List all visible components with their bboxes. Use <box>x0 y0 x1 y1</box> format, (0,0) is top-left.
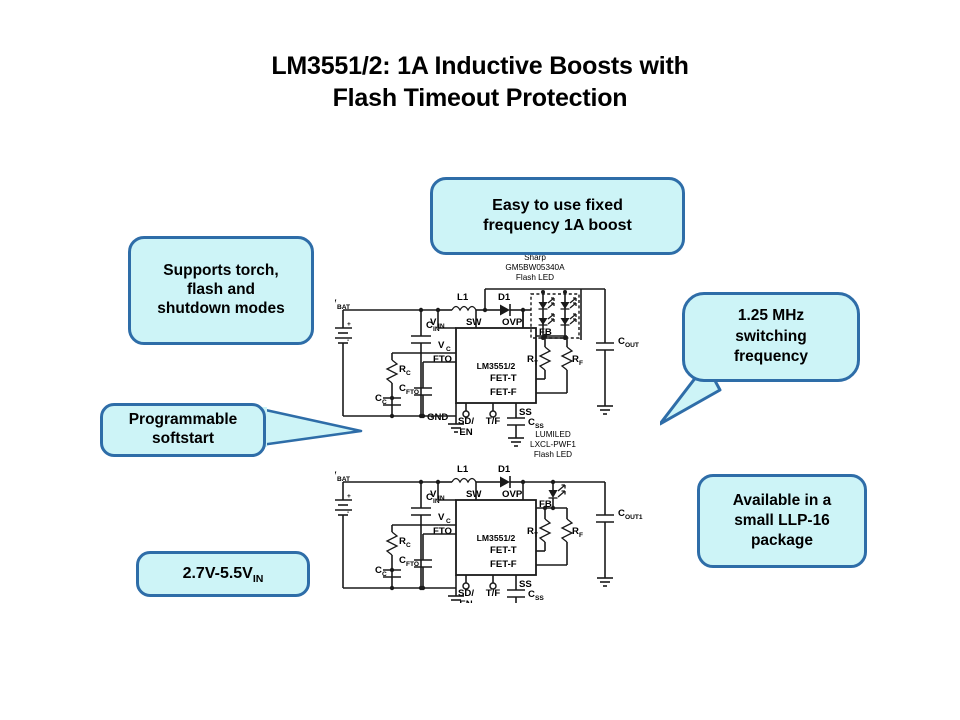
pin-sw-top: SW <box>466 317 482 328</box>
title-line-2: Flash Timeout Protection <box>80 82 880 114</box>
callout-easy-boost[interactable]: Easy to use fixed frequency 1A boost <box>430 177 685 255</box>
callout-torch-line-3: shutdown modes <box>137 300 305 319</box>
d1-label-top: D1 <box>498 292 511 303</box>
cout-label-top: C <box>618 336 625 347</box>
rc-sub-bottom: C <box>406 542 411 549</box>
vbat-sub: BAT <box>337 304 350 311</box>
css-sub-bottom: SS <box>535 595 544 602</box>
callout-programmable-softstart[interactable]: Programmable softstart <box>100 403 266 457</box>
pin-vin-label-b: V <box>430 489 437 500</box>
callout-llp-text: Available in a small LLP-16 package <box>700 491 864 550</box>
pin-fett-top: FET-T <box>490 373 517 384</box>
callout-softstart-line-2: softstart <box>109 430 257 449</box>
pin-vc-bottom: V <box>438 512 445 523</box>
callout-easy-boost-line-2: frequency 1A boost <box>439 216 676 236</box>
callout-vin-sub: IN <box>253 573 264 585</box>
pin-ovp-bottom: OVP <box>502 489 523 500</box>
circuit-top: Sharp GM5BW05340A Flash LED <box>335 253 639 446</box>
css-sub-top: SS <box>535 423 544 430</box>
page-title: LM3551/2: 1A Inductive Boosts with Flash… <box>80 50 880 114</box>
pin-vin-sub-b: IN <box>438 495 445 502</box>
battery-minus: - <box>347 337 349 344</box>
cfto-sub-bottom: FTO <box>406 561 419 568</box>
rt-label-bottom: R <box>527 526 534 537</box>
ic-label-top: LM3551/2 <box>477 361 516 371</box>
callout-freq-line-2: switching <box>691 327 851 348</box>
callout-torch-modes[interactable]: Supports torch, flash and shutdown modes <box>128 236 314 345</box>
cc-sub-top: C <box>382 399 387 406</box>
callout-freq-line-1: 1.25 MHz <box>691 306 851 327</box>
rc-sub-top: C <box>406 370 411 377</box>
rc-label-top: R <box>399 364 406 375</box>
cc-label-bottom: C <box>375 565 382 576</box>
l1-label-bottom: L1 <box>457 464 469 475</box>
callout-llp-line-3: package <box>706 531 858 551</box>
pin-ovp-top: OVP <box>502 317 523 328</box>
callout-torch-line-1: Supports torch, <box>137 262 305 281</box>
pin-sw-bottom: SW <box>466 489 482 500</box>
callout-torch-text: Supports torch, flash and shutdown modes <box>131 262 311 319</box>
pin-sden-bottom-2: EN <box>459 599 472 603</box>
rt-label-top: R <box>527 354 534 365</box>
battery-plus-b: + <box>347 493 351 500</box>
callout-switching-frequency[interactable]: 1.25 MHz switching frequency <box>682 292 860 382</box>
callout-easy-boost-line-1: Easy to use fixed <box>439 196 676 216</box>
vbat-sub-b: BAT <box>337 476 350 483</box>
callout-input-voltage[interactable]: 2.7V-5.5VIN <box>136 551 310 597</box>
pin-vin-sub: IN <box>438 323 445 330</box>
callout-llp-package[interactable]: Available in a small LLP-16 package <box>697 474 867 568</box>
rf-sub-bottom: F <box>579 532 583 539</box>
pin-vin-label: V <box>430 317 437 328</box>
callout-softstart-line-1: Programmable <box>109 411 257 430</box>
circuit-diagram: Sharp GM5BW05340A Flash LED <box>335 248 665 603</box>
cfto-label-top: C <box>399 383 406 394</box>
led-part-b-line-2: LXCL-PWF1 <box>530 440 576 449</box>
pin-gnd-top: GND <box>427 412 448 423</box>
cfto-label-bottom: C <box>399 555 406 566</box>
cc-label-top: C <box>375 393 382 404</box>
led-part-line-3: Flash LED <box>516 273 554 282</box>
slide-canvas: LM3551/2: 1A Inductive Boosts with Flash… <box>0 0 960 720</box>
callout-easy-boost-text: Easy to use fixed frequency 1A boost <box>433 196 682 235</box>
pin-fetf-bottom: FET-F <box>490 559 517 570</box>
led-part-line-2: GM5BW05340A <box>505 263 565 272</box>
callout-vin-text: 2.7V-5.5VIN <box>139 564 307 584</box>
rf-sub-top: F <box>579 360 583 367</box>
pin-fett-bottom: FET-T <box>490 545 517 556</box>
pin-vc-sub-top: C <box>446 346 451 353</box>
cfto-sub-top: FTO <box>406 389 419 396</box>
callout-vin-main: 2.7V-5.5V <box>183 565 253 582</box>
led-part-b-line-1: LUMILED <box>535 430 571 439</box>
cc-sub-bottom: C <box>382 571 387 578</box>
pin-vc-sub-bottom: C <box>446 518 451 525</box>
rc-label-bottom: R <box>399 536 406 547</box>
callout-freq-line-3: frequency <box>691 347 851 368</box>
battery-minus-b: - <box>347 509 349 516</box>
circuit-bottom: LUMILED LXCL-PWF1 Flash LED <box>335 430 643 603</box>
callout-llp-line-2: small LLP-16 <box>706 511 858 531</box>
css-label-top: C <box>528 417 535 428</box>
rt-sub-bottom: T <box>534 532 538 539</box>
led-part-b-line-3: Flash LED <box>534 450 572 459</box>
ic-label-bottom: LM3551/2 <box>477 533 516 543</box>
callout-torch-line-2: flash and <box>137 281 305 300</box>
callout-freq-text: 1.25 MHz switching frequency <box>685 306 857 368</box>
d1-label-bottom: D1 <box>498 464 511 475</box>
pin-vc-top: V <box>438 340 445 351</box>
cout-sub-top: OUT <box>625 342 639 349</box>
cout-sub-bottom: OUT1 <box>625 514 643 521</box>
title-line-1: LM3551/2: 1A Inductive Boosts with <box>80 50 880 82</box>
callout-llp-line-1: Available in a <box>706 491 858 511</box>
pin-fto-top: FTO <box>433 354 453 365</box>
callout-softstart-text: Programmable softstart <box>103 411 263 449</box>
rt-sub-top: T <box>534 360 538 367</box>
pin-sden-top-2: EN <box>459 427 472 438</box>
l1-label-top: L1 <box>457 292 469 303</box>
pin-fto-bottom: FTO <box>433 526 453 537</box>
rf-label-top: R <box>572 354 579 365</box>
rf-label-bottom: R <box>572 526 579 537</box>
pin-fetf-top: FET-F <box>490 387 517 398</box>
css-label-bottom: C <box>528 589 535 600</box>
battery-plus: + <box>347 321 351 328</box>
cout-label-bottom: C <box>618 508 625 519</box>
